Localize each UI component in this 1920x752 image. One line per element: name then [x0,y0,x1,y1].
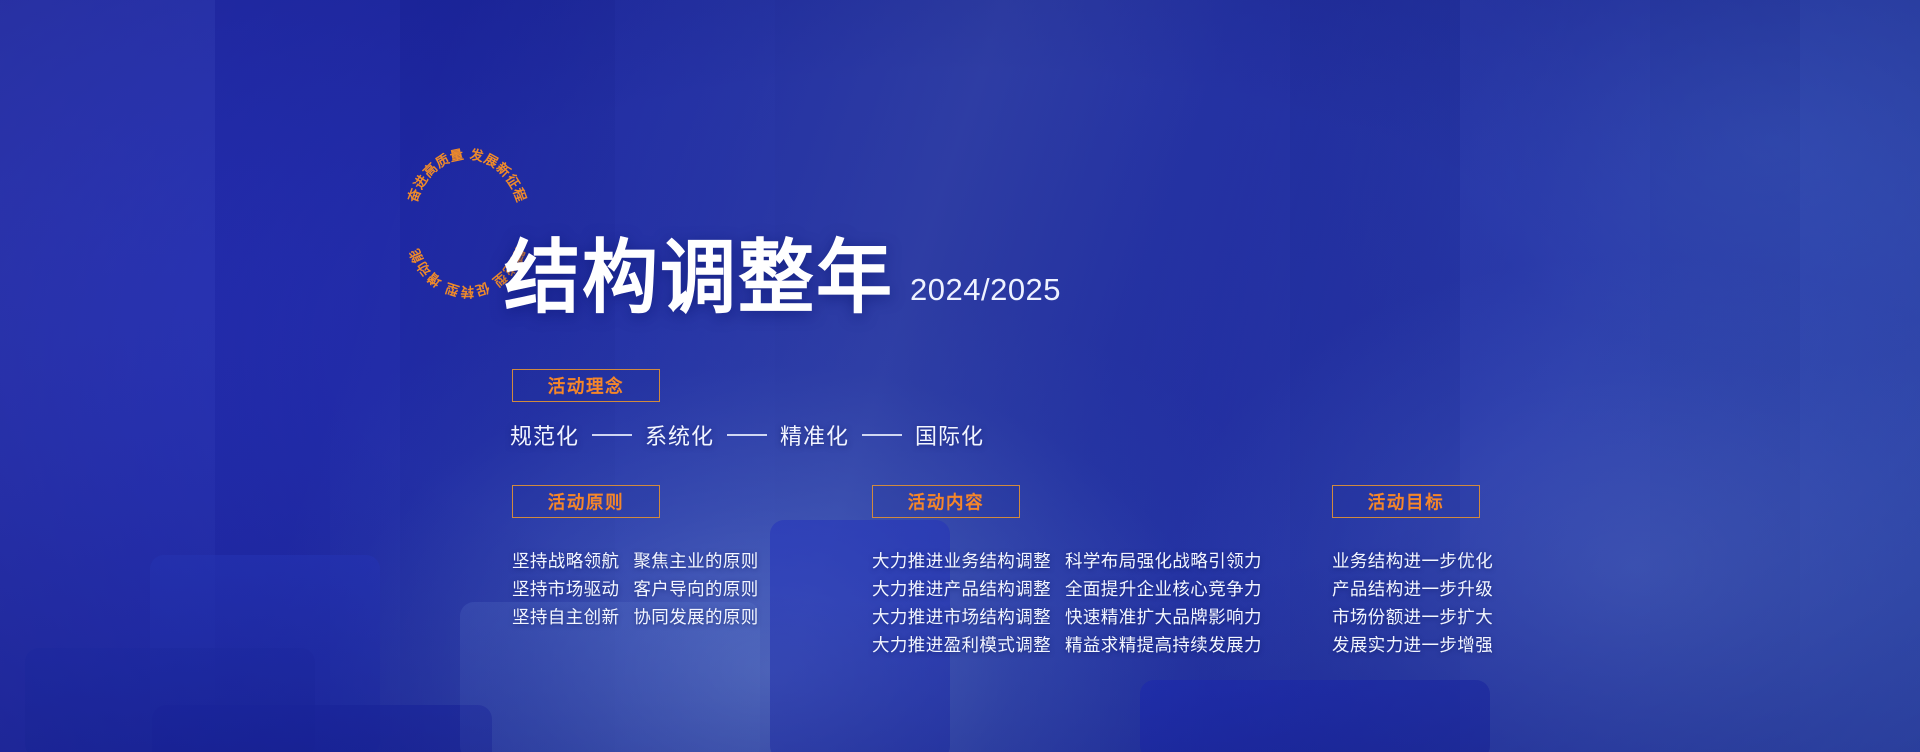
row-text-b: 客户导向的原则 [633,575,758,603]
row-text-a: 坚持市场驱动 [512,575,619,603]
row-text-b: 快速精准扩大品牌影响力 [1065,603,1262,631]
badge-goals[interactable]: 活动目标 [1332,485,1480,518]
concept-item: 精准化 [780,419,849,451]
seal-text-top: 奋进高质量 发展新征程 [404,146,529,206]
badge-contents-label: 活动内容 [908,489,984,515]
row-text-a: 大力推进业务结构调整 [872,547,1051,575]
row-text-a: 市场份额进一步扩大 [1332,603,1493,631]
goals-rows: 业务结构进一步优化 产品结构进一步升级 市场份额进一步扩大 发展实力进一步增强 [1332,547,1493,659]
list-item: 坚持战略领航 聚焦主业的原则 [512,547,759,575]
column-contents: 活动内容 大力推进业务结构调整 科学布局强化战略引领力 大力推进产品结构调整 全… [872,485,1262,659]
list-item: 大力推进产品结构调整 全面提升企业核心竞争力 [872,575,1262,603]
list-item: 坚持自主创新 协同发展的原则 [512,603,759,631]
row-text-a: 产品结构进一步升级 [1332,575,1493,603]
row-text-a: 大力推进产品结构调整 [872,575,1051,603]
concept-separator [592,434,632,436]
concept-item: 规范化 [510,419,579,451]
title-row: 结构调整年 2024/2025 [504,244,1061,317]
row-text-a: 大力推进盈利模式调整 [872,631,1051,659]
badge-goals-label: 活动目标 [1368,489,1444,515]
row-text-b: 聚焦主业的原则 [633,547,758,575]
page-title: 结构调整年 [504,240,894,317]
badge-concept[interactable]: 活动理念 [512,369,660,402]
title-year: 2024/2025 [910,272,1061,308]
badge-concept-label: 活动理念 [548,373,624,399]
concept-separator [727,434,767,436]
list-item: 大力推进盈利模式调整 精益求精提高持续发展力 [872,631,1262,659]
concept-item: 系统化 [645,419,714,451]
badge-contents[interactable]: 活动内容 [872,485,1020,518]
row-text-b: 全面提升企业核心竞争力 [1065,575,1262,603]
list-item: 坚持市场驱动 客户导向的原则 [512,575,759,603]
row-text-b: 协同发展的原则 [633,603,758,631]
column-goals: 活动目标 业务结构进一步优化 产品结构进一步升级 市场份额进一步扩大 发展实力进… [1332,485,1493,659]
badge-principles-label: 活动原则 [548,489,624,515]
row-text-a: 发展实力进一步增强 [1332,631,1493,659]
list-item: 业务结构进一步优化 [1332,547,1493,575]
row-text-a: 业务结构进一步优化 [1332,547,1493,575]
poster-content: 奋进高质量 发展新征程 赋能型 促转型 增动能 结构调整年 2024/2025 … [0,0,1920,752]
banner-poster: 奋进高质量 发展新征程 赋能型 促转型 增动能 结构调整年 2024/2025 … [0,0,1920,752]
list-item: 市场份额进一步扩大 [1332,603,1493,631]
concept-separator [862,434,902,436]
list-item: 发展实力进一步增强 [1332,631,1493,659]
principles-rows: 坚持战略领航 聚焦主业的原则 坚持市场驱动 客户导向的原则 坚持自主创新 协同发… [512,547,759,631]
row-text-a: 坚持自主创新 [512,603,619,631]
row-text-a: 大力推进市场结构调整 [872,603,1051,631]
badge-principles[interactable]: 活动原则 [512,485,660,518]
concept-line: 规范化系统化精准化国际化 [510,419,984,451]
row-text-a: 坚持战略领航 [512,547,619,575]
row-text-b: 精益求精提高持续发展力 [1065,631,1262,659]
list-item: 产品结构进一步升级 [1332,575,1493,603]
list-item: 大力推进市场结构调整 快速精准扩大品牌影响力 [872,603,1262,631]
concept-item: 国际化 [915,419,984,451]
row-text-b: 科学布局强化战略引领力 [1065,547,1262,575]
list-item: 大力推进业务结构调整 科学布局强化战略引领力 [872,547,1262,575]
column-principles: 活动原则 坚持战略领航 聚焦主业的原则 坚持市场驱动 客户导向的原则 坚持自主创… [512,485,759,631]
contents-rows: 大力推进业务结构调整 科学布局强化战略引领力 大力推进产品结构调整 全面提升企业… [872,547,1262,659]
